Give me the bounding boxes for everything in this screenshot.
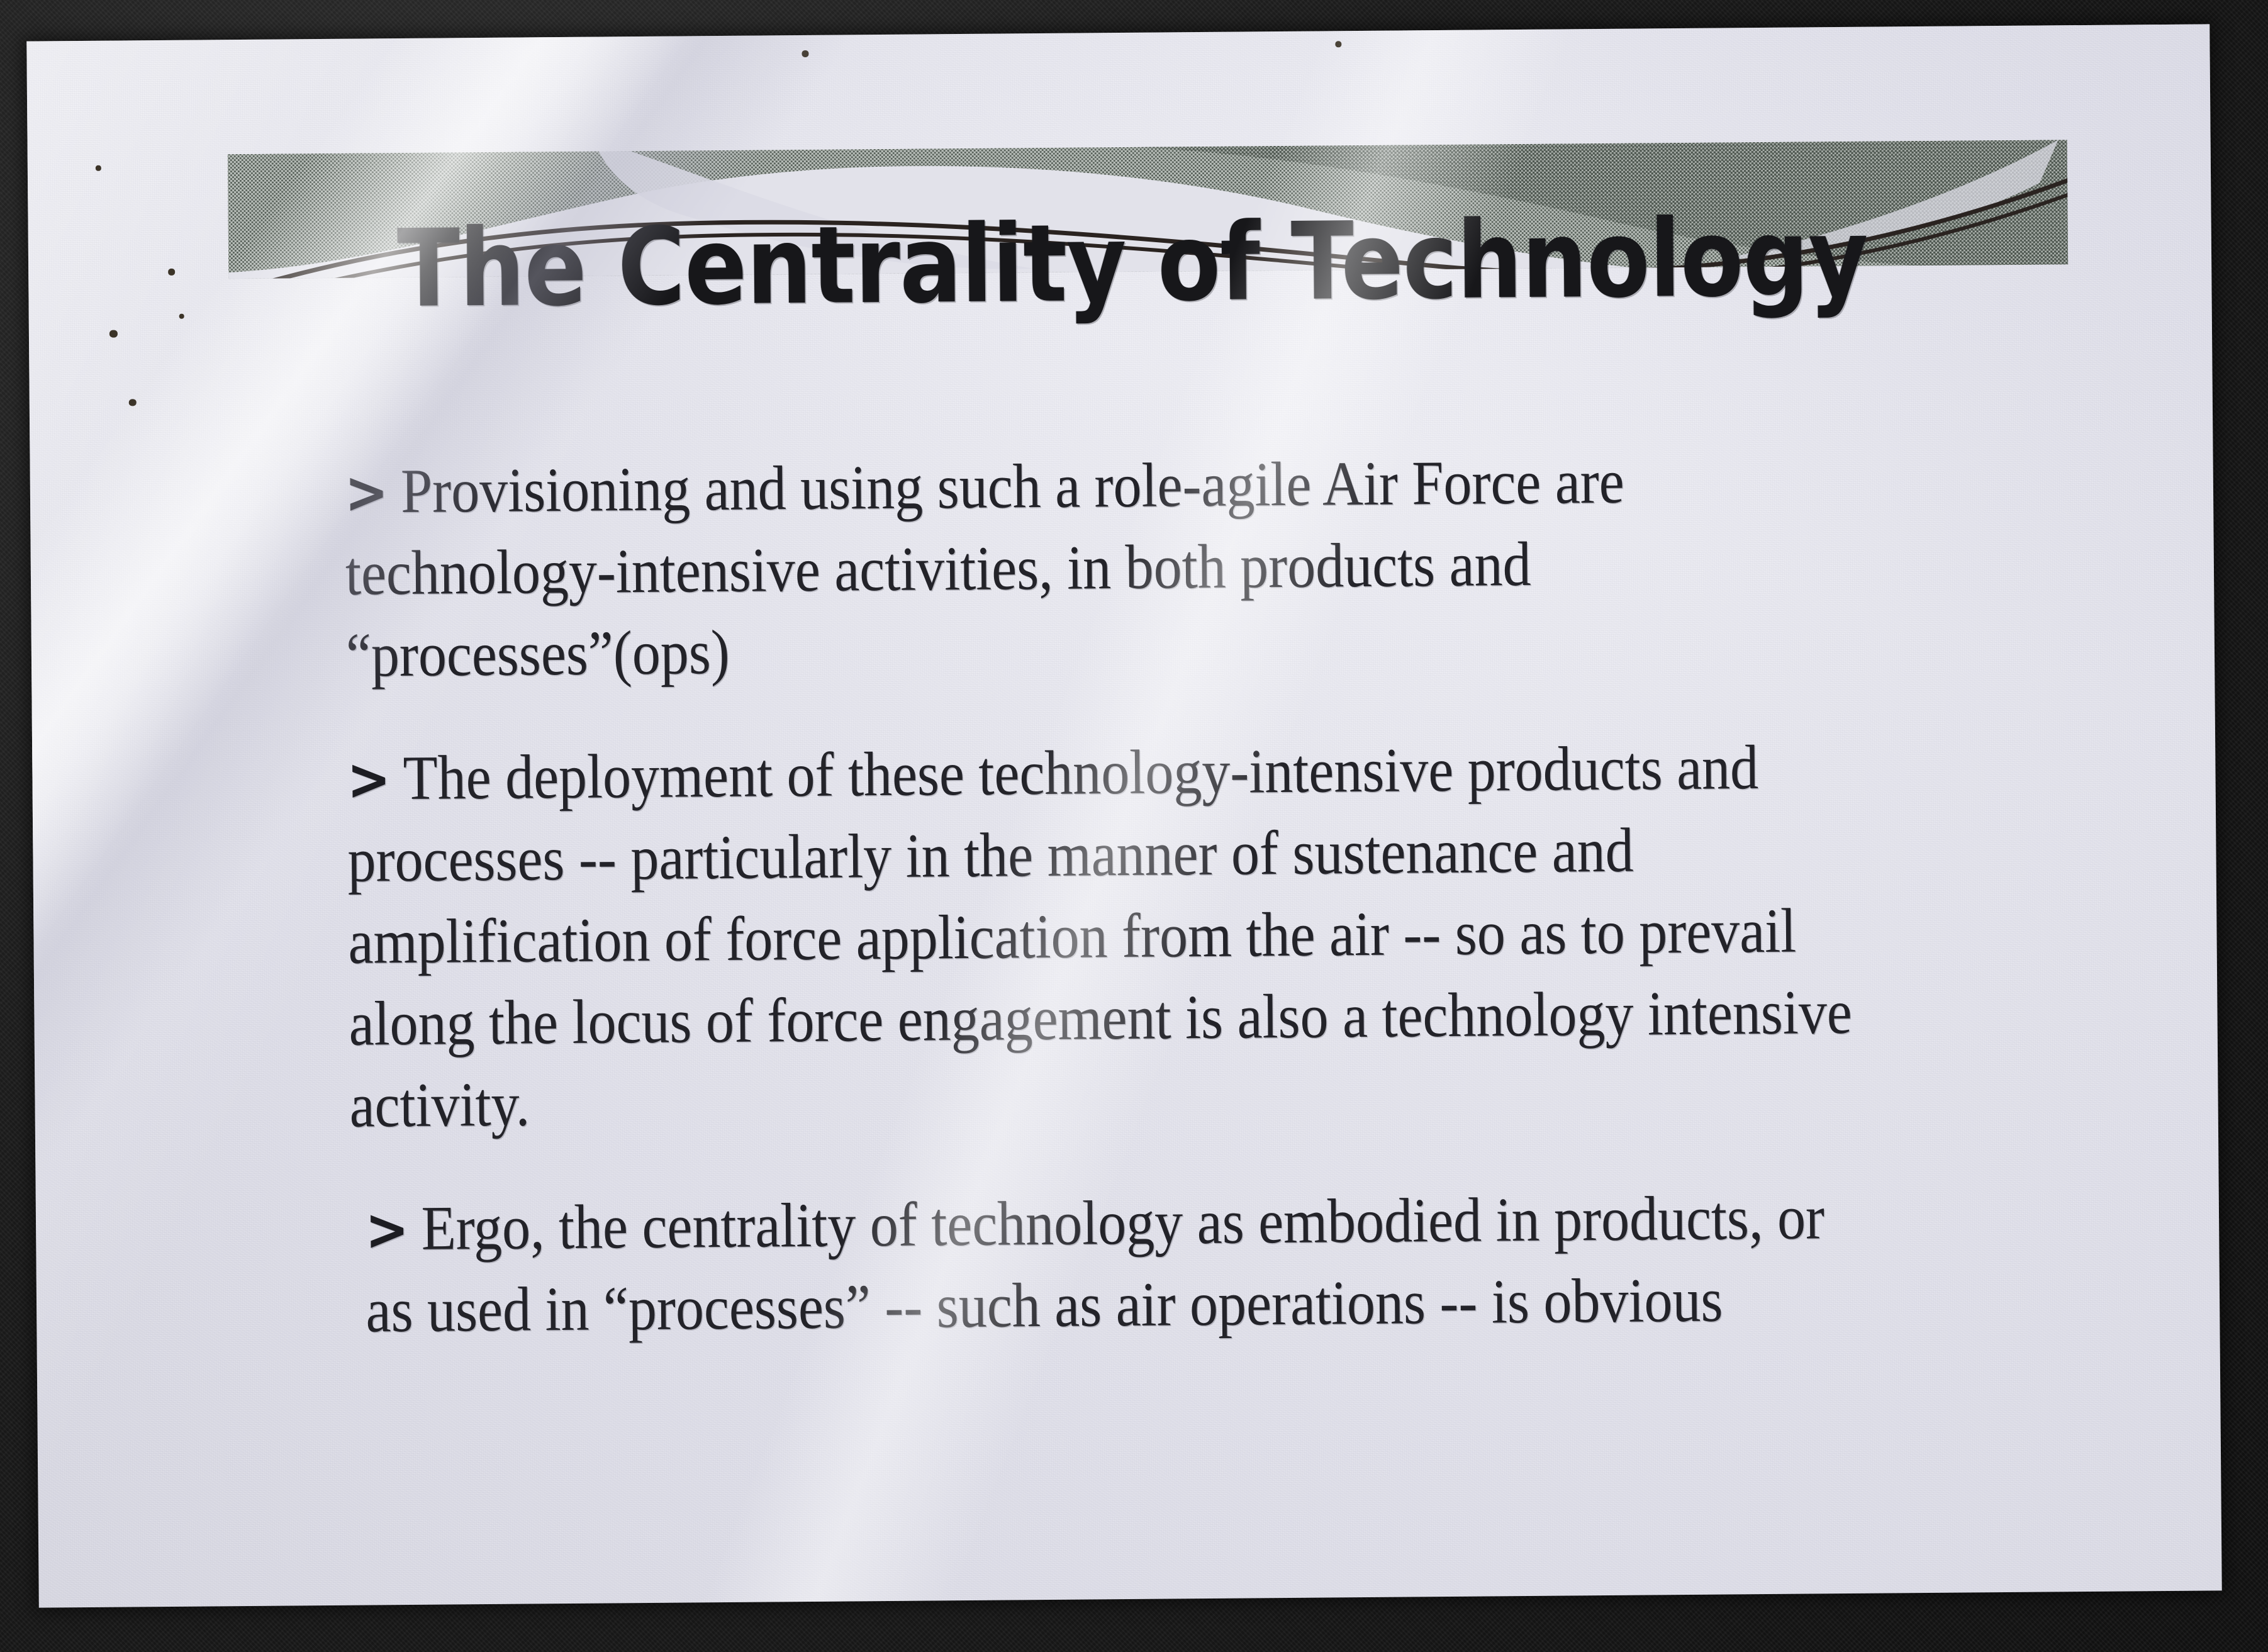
dust-speck bbox=[109, 330, 118, 338]
scanned-page: The Centrality of Technology >Provisioni… bbox=[26, 24, 2221, 1607]
dust-speck bbox=[96, 165, 101, 171]
chevron-bullet-icon: > bbox=[345, 459, 401, 527]
bullet-item: >The deployment of these technology-inte… bbox=[347, 726, 1879, 1147]
bullet-text: Provisioning and using such a role-agile… bbox=[345, 447, 1624, 690]
bullet-text: The deployment of these technology-inten… bbox=[347, 732, 1852, 1141]
slide-title: The Centrality of Technology bbox=[328, 204, 1938, 323]
bullet-item: >Ergo, the centrality of technology as e… bbox=[350, 1176, 1880, 1352]
slide-body: >Provisioning and using such a role-agil… bbox=[344, 438, 2050, 1393]
dust-speck bbox=[129, 399, 137, 406]
chevron-bullet-icon: > bbox=[365, 1196, 422, 1264]
dust-speck bbox=[802, 50, 808, 57]
chevron-bullet-icon: > bbox=[347, 745, 403, 813]
dust-speck bbox=[168, 269, 175, 276]
dust-speck bbox=[179, 314, 184, 319]
bullet-text: Ergo, the centrality of technology as em… bbox=[366, 1182, 1824, 1345]
bullet-item: >Provisioning and using such a role-agil… bbox=[344, 439, 1875, 696]
dust-speck bbox=[1335, 41, 1341, 47]
